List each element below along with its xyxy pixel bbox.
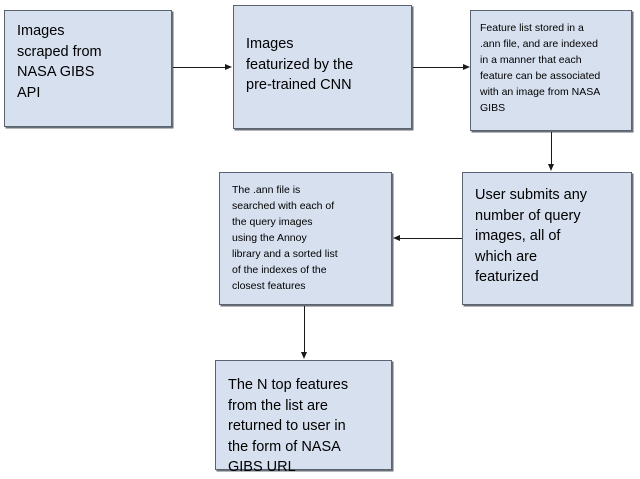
arrowhead-usersubmit-to-annsearch [393, 235, 400, 241]
arrowhead-featurize-to-featurelist [463, 64, 470, 70]
node-ann-search[interactable]: The .ann file is searched with each of t… [219, 172, 392, 305]
connector-scrape-to-featurize [173, 67, 225, 68]
arrowhead-annsearch-to-results [301, 352, 307, 359]
node-return-results[interactable]: The N top features from the list are ret… [215, 360, 392, 470]
node-images-featurized[interactable]: Images featurized by the pre-trained CNN [233, 5, 412, 129]
arrowhead-scrape-to-featurize [225, 64, 232, 70]
node-images-scraped[interactable]: Images scraped from NASA GIBS API [4, 10, 172, 127]
flowchart-canvas: Images scraped from NASA GIBS API Images… [0, 0, 640, 479]
node-user-submits[interactable]: User submits any number of query images,… [462, 172, 632, 305]
connector-annsearch-to-results [304, 306, 305, 353]
connector-usersubmit-to-annsearch [400, 238, 462, 239]
arrowhead-featurelist-to-usersubmit [548, 164, 554, 171]
connector-featurelist-to-usersubmit [551, 132, 552, 165]
connector-featurize-to-featurelist [413, 67, 463, 68]
node-feature-list[interactable]: Feature list stored in a .ann file, and … [470, 10, 632, 131]
